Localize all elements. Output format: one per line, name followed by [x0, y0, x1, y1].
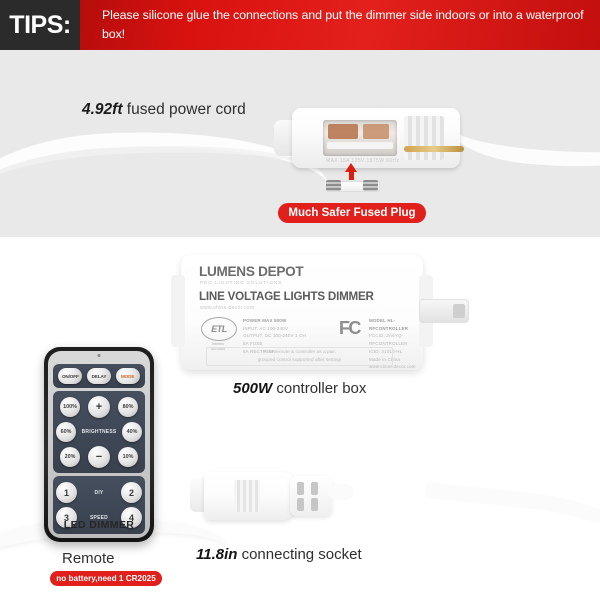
remote-button-80[interactable]: 80%	[118, 397, 138, 417]
fused-plug-graphic: MAX 15A 125V 1875W 60Hz	[292, 108, 460, 168]
spec-fccid: FCCID: 2A6YQ-RFCONTROLLER	[369, 332, 423, 347]
controller-output-connector	[419, 299, 469, 323]
power-cord-measure: 4.92ft	[82, 101, 123, 118]
controller-caption-text: controller box	[272, 380, 366, 397]
plug-grip-ribs	[404, 116, 444, 160]
remote-button-preset-1[interactable]: 1	[56, 482, 77, 503]
cable-graphic-right	[448, 102, 600, 177]
controller-brand: LUMENS DEPOT	[199, 264, 303, 279]
infographic-page: TIPS: Please silicone glue the connectio…	[0, 0, 600, 600]
remote-button-preset-2[interactable]: 2	[121, 482, 142, 503]
plug-internal-bar	[327, 142, 393, 149]
plug-brass-pin	[404, 146, 464, 152]
plug-fuse-window	[323, 120, 397, 156]
spec-model: MODEL HL-RFCONTROLLER	[369, 317, 423, 332]
controller-box-graphic: LUMENS DEPOT PRO LIGHTING SOLUTIONS LINE…	[181, 255, 423, 370]
etl-certification-mark: ETL Intertek 5023985	[201, 317, 235, 343]
tips-label-text: TIPS:	[9, 11, 70, 40]
remote-battery-badge: no battery,need 1 CR2025	[50, 571, 162, 586]
etl-oval-icon: ETL	[201, 317, 237, 341]
remote-label-diy: DIY	[77, 490, 121, 496]
power-cord-caption: 4.92ft fused power cord	[82, 101, 246, 119]
controller-brand-tagline: PRO LIGHTING SOLUTIONS	[200, 280, 282, 285]
remote-button-100[interactable]: 100%	[60, 397, 80, 417]
pairing-note-line-1: *Use remote & controller as a pair,	[263, 349, 336, 356]
up-arrow-stem	[349, 171, 354, 180]
fuse-cap-left	[326, 180, 341, 191]
etl-text: ETL	[211, 324, 227, 334]
remote-label-brightness: BRIGHTNESS	[76, 429, 122, 435]
socket-slot-3	[297, 498, 304, 511]
fuse-component-graphic	[326, 180, 378, 191]
connector-pin-icon	[453, 304, 465, 318]
remote-group-brightness: 100% + 80% 60% BRIGHTNESS 40% 20% − 10%	[53, 391, 145, 473]
plug-internal-fuse-a	[328, 124, 358, 139]
remote-led-indicator	[98, 354, 101, 357]
spec-input: INPUT: AC 100-240V	[243, 325, 306, 333]
remote-button-increase[interactable]: +	[88, 396, 110, 418]
remote-row-power: ON/OFF DELAY MODE	[56, 368, 142, 384]
remote-faceplate: ON/OFF DELAY MODE 100% + 80% 60% BRIGHTN…	[48, 351, 150, 538]
remote-row-brightness-3: 20% − 10%	[56, 446, 142, 468]
remote-button-10[interactable]: 10%	[118, 447, 138, 467]
plug-internal-fuse-b	[363, 124, 389, 139]
tips-message: Please silicone glue the connections and…	[102, 6, 586, 43]
tips-message-area: Please silicone glue the connections and…	[80, 0, 600, 50]
fuse-cap-right	[363, 180, 378, 191]
controller-website: www.shine-decor.com	[200, 305, 254, 311]
remote-button-decrease[interactable]: −	[88, 446, 110, 468]
safer-fused-plug-badge: Much Safer Fused Plug	[278, 203, 426, 223]
plug-body: MAX 15A 125V 1875W 60Hz	[292, 108, 460, 168]
socket-slot-2	[311, 482, 318, 495]
remote-group-power: ON/OFF DELAY MODE	[53, 364, 145, 388]
remote-button-40[interactable]: 40%	[122, 422, 142, 442]
cable-graphic-upper-right	[415, 482, 600, 600]
controller-measure: 500W	[233, 380, 272, 397]
controller-pairing-note: *Use remote & controller as a pair, grou…	[206, 347, 393, 366]
tips-label-block: TIPS:	[0, 0, 80, 50]
remote-row-brightness-1: 100% + 80%	[56, 396, 142, 418]
remote-brand-text: LED DIMMER	[48, 519, 150, 531]
remote-button-onoff[interactable]: ON/OFF	[58, 368, 82, 384]
power-cord-caption-text: fused power cord	[123, 101, 246, 118]
socket-cable-tail	[328, 484, 354, 500]
controller-mount-ear-left	[171, 275, 185, 347]
remote-caption: Remote	[62, 550, 115, 567]
controller-product-title: LINE VOLTAGE LIGHTS DIMMER	[199, 290, 374, 303]
remote-button-mode[interactable]: MODE	[116, 368, 140, 384]
remote-row-preset-1: 1 DIY 2	[56, 482, 142, 503]
connecting-socket-graphic	[190, 470, 340, 522]
socket-slot-4	[311, 498, 318, 511]
socket-measure: 11.8in	[196, 546, 237, 563]
socket-slot-1	[297, 482, 304, 495]
tips-banner: TIPS: Please silicone glue the connectio…	[0, 0, 600, 50]
socket-caption: 11.8in connecting socket	[196, 546, 362, 563]
remote-button-60[interactable]: 60%	[56, 422, 76, 442]
pairing-note-line-2: grouped control supported after setting!	[258, 357, 342, 364]
remote-row-brightness-2: 60% BRIGHTNESS 40%	[56, 422, 142, 442]
remote-control-graphic: ON/OFF DELAY MODE 100% + 80% 60% BRIGHTN…	[44, 347, 154, 542]
remote-button-20[interactable]: 20%	[60, 447, 80, 467]
spec-power-max: POWER MAX 500W	[243, 317, 306, 325]
fcc-mark-icon: FC	[339, 318, 360, 339]
controller-caption: 500W controller box	[233, 380, 366, 397]
socket-caption-text: connecting socket	[237, 546, 361, 563]
socket-grip-ribs	[234, 480, 260, 512]
spec-output: OUTPUT: DC 100-240V 1 CH	[243, 332, 306, 340]
plug-rating-text: MAX 15A 125V 1875W 60Hz	[326, 158, 399, 164]
remote-button-delay[interactable]: DELAY	[87, 368, 111, 384]
